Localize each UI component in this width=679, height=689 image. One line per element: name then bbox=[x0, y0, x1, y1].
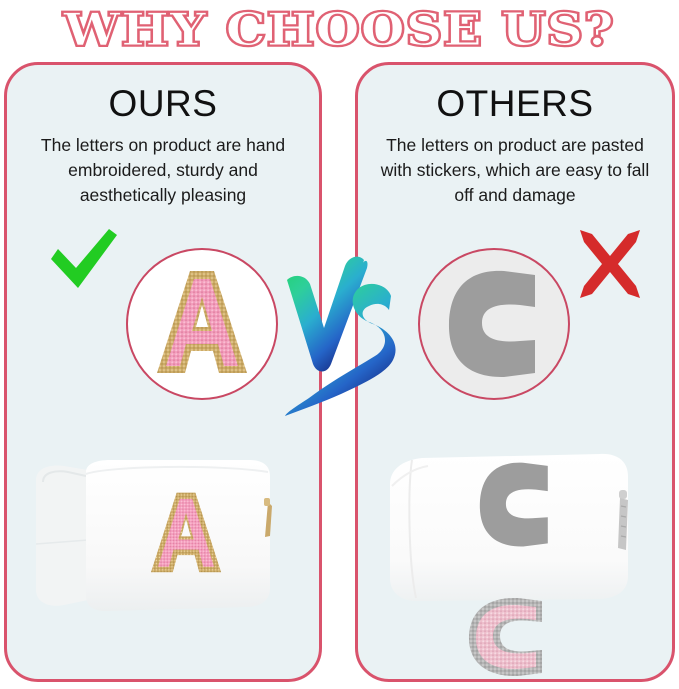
page-title: WHY CHOOSE US? bbox=[0, 2, 679, 56]
product-bag-others bbox=[382, 440, 662, 620]
product-bag-ours bbox=[18, 440, 318, 640]
patch-circle-others bbox=[418, 248, 570, 400]
chenille-letter-a-patch bbox=[143, 265, 261, 383]
sticker-letter-c bbox=[434, 265, 554, 383]
fallen-chenille-letter-c-patch bbox=[462, 596, 548, 678]
patch-circle-ours bbox=[126, 248, 278, 400]
panel-others-description: The letters on product are pasted with s… bbox=[374, 133, 656, 208]
panel-ours-description: The letters on product are hand embroide… bbox=[23, 133, 303, 208]
check-icon bbox=[48, 226, 120, 298]
versus-graphic bbox=[283, 248, 401, 420]
panel-ours-heading: OURS bbox=[7, 83, 319, 125]
panel-others-heading: OTHERS bbox=[358, 83, 672, 125]
cross-icon bbox=[574, 228, 646, 300]
page-title-text: WHY CHOOSE US? bbox=[64, 3, 615, 56]
